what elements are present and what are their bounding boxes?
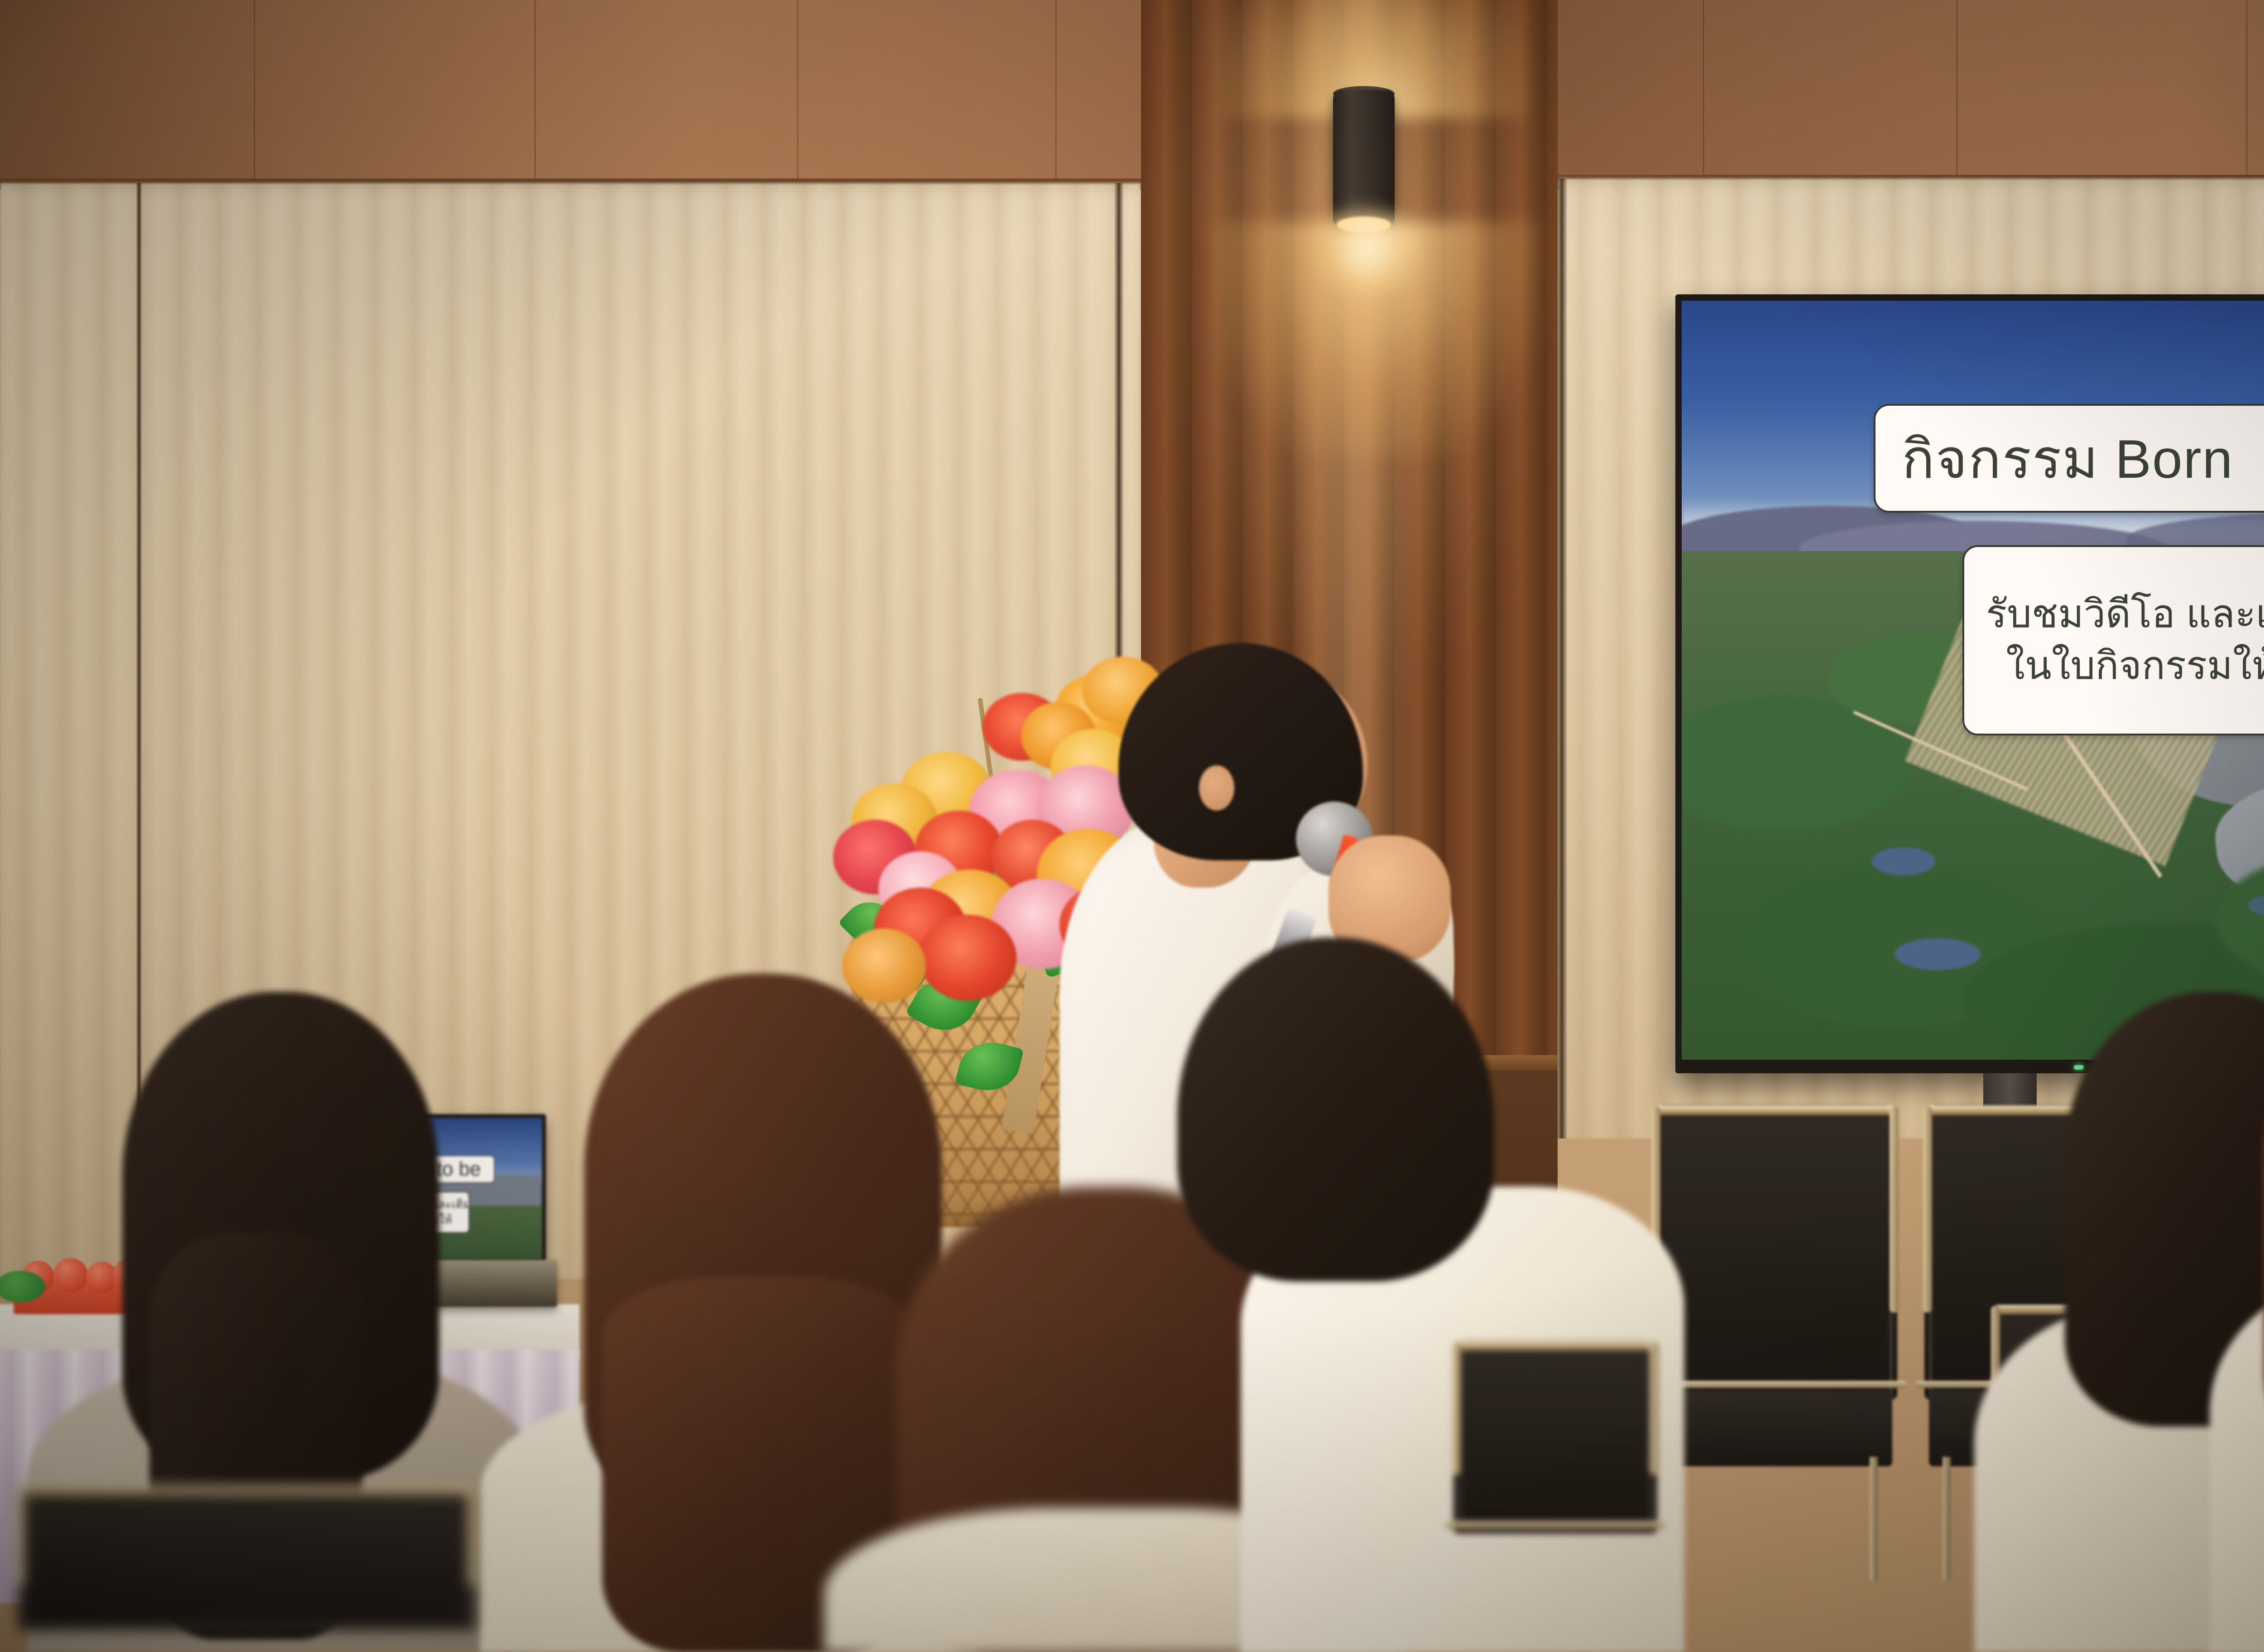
wall-upper-wood-band — [0, 0, 2264, 190]
presenter-ear — [1199, 765, 1234, 811]
rose-orange-bottom-left — [842, 928, 926, 1003]
screen-title-text: กิจกรรม Born — [1902, 415, 2233, 502]
sconce-hotspot — [1302, 204, 1429, 294]
screen-pond-1 — [1872, 847, 1935, 875]
rose-red-bottom — [919, 915, 1017, 1001]
screen-title-bubble: กิจกรรม Born — [1874, 404, 2264, 513]
screen-subtitle-bubble: รับชมวิดีโอ และเติ ในใบกิจกรรมให้ — [1962, 545, 2264, 735]
chair-center[interactable] — [1453, 1340, 1657, 1652]
screen-subtitle-line1: รับชมวิดีโอ และเติ — [1986, 589, 2264, 640]
power-led-icon — [2074, 1065, 2084, 1070]
tv-screen-content: กิจกรรม Born รับชมวิดีโอ และเติ ในใบกิจก… — [1682, 301, 2264, 1060]
photo-scene: กิจกรรม Born รับชมวิดีโอ และเติ ในใบกิจก… — [0, 0, 2264, 1652]
table-pom-flower-2 — [53, 1258, 88, 1292]
wall-display-tv[interactable]: กิจกรรม Born รับชมวิดีโอ และเติ ในใบกิจก… — [1675, 294, 2264, 1073]
chair-back-1[interactable] — [1653, 1105, 1897, 1580]
chair-foreground-left[interactable] — [18, 1485, 475, 1652]
screen-pond-2 — [1895, 938, 1981, 970]
screen-subtitle-line2: ในใบกิจกรรมให้ — [1986, 640, 2264, 692]
